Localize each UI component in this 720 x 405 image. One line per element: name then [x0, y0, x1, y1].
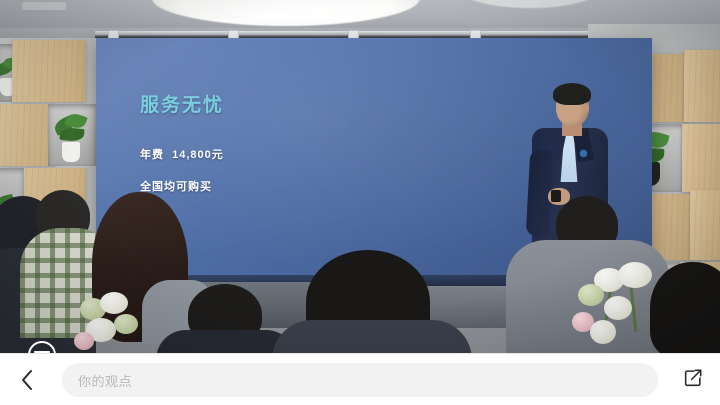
audience-member: [272, 320, 472, 353]
flower-bloom: [114, 314, 138, 334]
plant-pot: [62, 142, 80, 162]
bottom-action-bar: 你的观点: [0, 353, 720, 405]
slide-availability-line: 全国均可购买: [140, 178, 212, 194]
chevron-left-icon: [19, 368, 35, 392]
flower-bloom: [578, 284, 604, 306]
flower-bloom: [100, 292, 128, 314]
flower-bloom: [74, 332, 94, 350]
presenter-badge-pin: [580, 150, 587, 157]
flower-arrangement: [570, 262, 700, 353]
slide-title: 服务无忧: [140, 90, 224, 117]
video-player-surface[interactable]: 服务无忧 年费 14,800元 全国均可购买: [0, 0, 720, 353]
back-button[interactable]: [0, 354, 54, 405]
shelf-panel: [682, 124, 720, 192]
comment-input[interactable]: 你的观点: [62, 363, 658, 397]
video-detail-screen: 服务无忧 年费 14,800元 全国均可购买: [0, 0, 720, 405]
shelf-niche: [48, 104, 96, 166]
share-button[interactable]: [666, 354, 720, 405]
ceiling-vent: [22, 2, 66, 10]
presenter-remote: [551, 190, 561, 202]
presenter-hair: [553, 83, 591, 105]
presenter-ear: [582, 103, 589, 113]
share-icon: [682, 367, 704, 394]
shelf-panel: [690, 190, 720, 260]
flower-bloom: [618, 262, 652, 288]
comment-input-placeholder: 你的观点: [78, 371, 132, 390]
shelf-panel: [12, 40, 86, 102]
flower-arrangement: [74, 288, 194, 353]
slide-price-line: 年费 14,800元: [140, 146, 224, 162]
shelf-panel: [684, 50, 720, 122]
flower-bloom: [590, 320, 616, 344]
plant-leaf: [59, 127, 84, 142]
flower-bloom: [604, 296, 632, 320]
